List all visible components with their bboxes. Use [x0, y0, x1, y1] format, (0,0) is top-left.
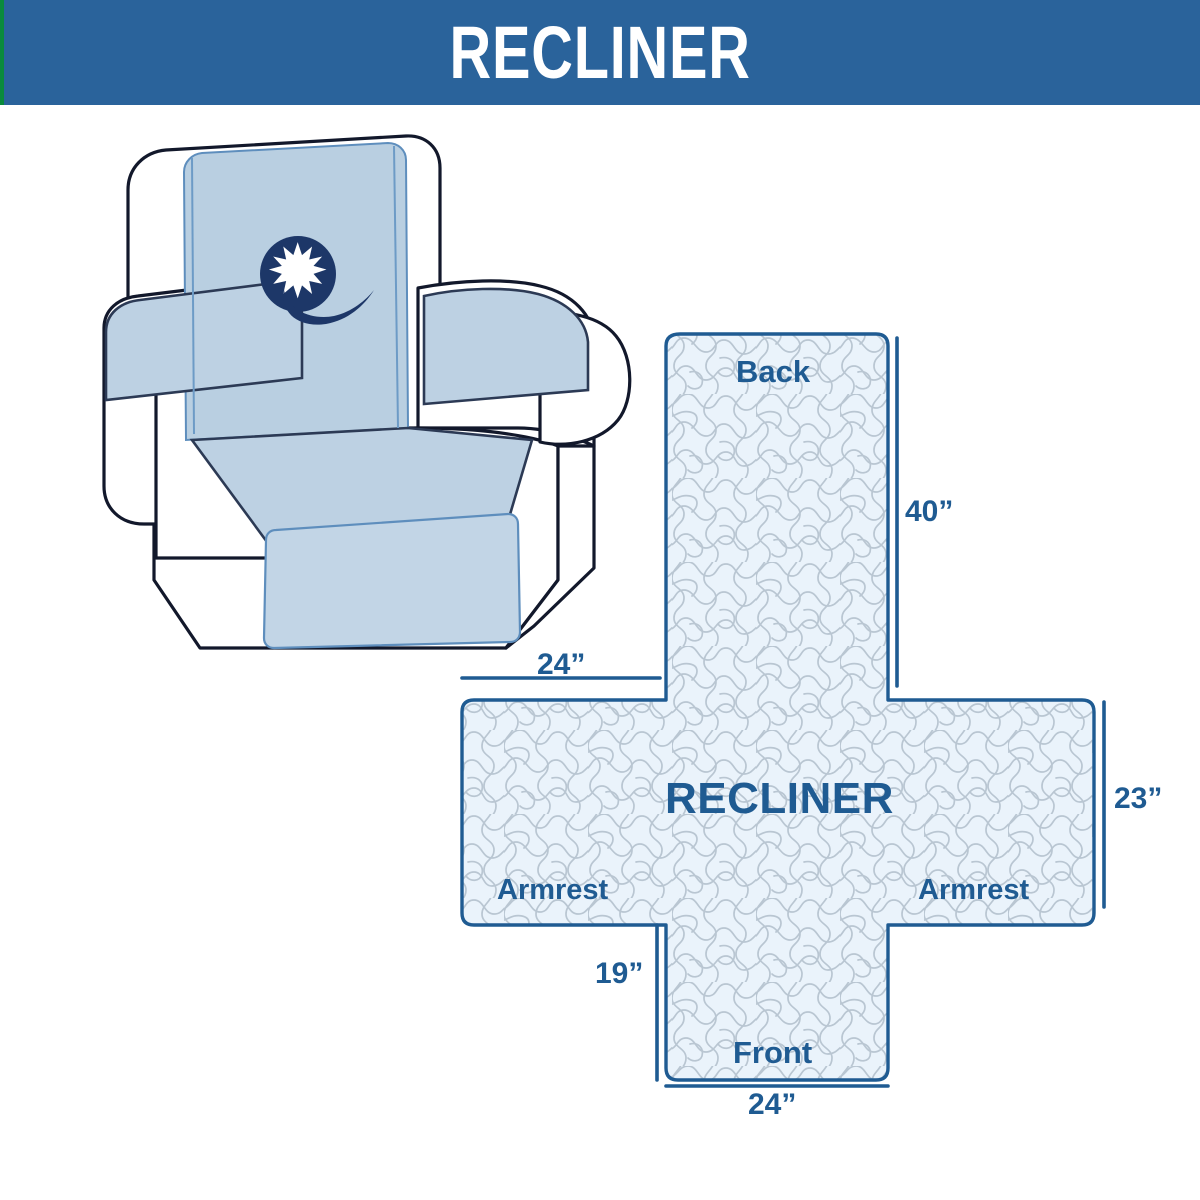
panel-label-front: Front	[733, 1035, 812, 1071]
diagram-center-label: RECLINER	[665, 774, 894, 824]
dimension-label-front-height: 19”	[595, 957, 643, 991]
dimension-label-back-height: 40”	[905, 495, 953, 529]
dimension-label-front-width: 24”	[748, 1088, 796, 1122]
dimension-label-armrest-width: 24”	[537, 648, 585, 682]
panel-label-armrest-right: Armrest	[918, 874, 1029, 907]
panel-label-back: Back	[736, 354, 810, 390]
panel-label-armrest-left: Armrest	[497, 874, 608, 907]
product-dimension-sheet: RECLINER	[0, 0, 1200, 1200]
cover-cross-outline	[462, 334, 1094, 1080]
cover-pattern-diagram: Back Armrest Armrest Front RECLINER 40” …	[420, 310, 1200, 1140]
dimension-label-armrest-depth: 23”	[1114, 782, 1162, 816]
page-header: RECLINER	[0, 0, 1200, 105]
page-title: RECLINER	[449, 16, 750, 90]
header-accent-stripe	[0, 0, 4, 105]
